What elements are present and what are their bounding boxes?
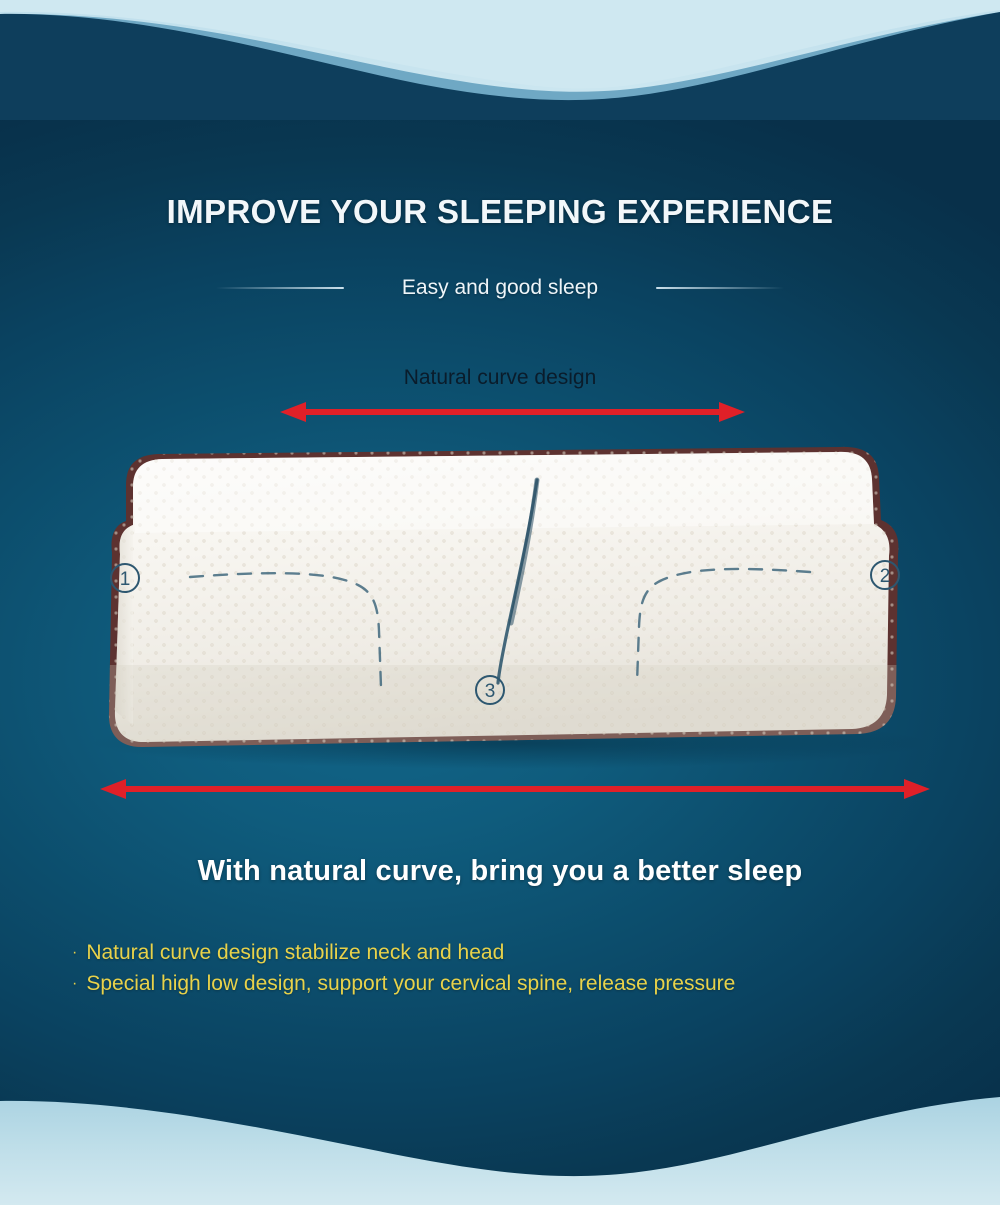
bottom-wave-decoration [0, 1075, 1000, 1205]
subtitle-rule-left [216, 287, 344, 289]
natural-curve-label: Natural curve design [0, 366, 1000, 390]
list-item: · Natural curve design stabilize neck an… [72, 938, 972, 969]
width-arrow-bottom [100, 776, 930, 802]
page-title: IMPROVE YOUR SLEEPING EXPERIENCE [0, 193, 1000, 231]
list-item: · Special high low design, support your … [72, 969, 972, 1000]
width-arrow-top [280, 399, 745, 425]
callout-3-label: 3 [485, 681, 496, 702]
subtitle-row: Easy and good sleep [0, 276, 1000, 300]
subtitle-text: Easy and good sleep [402, 276, 598, 300]
subtitle-rule-right [656, 287, 784, 289]
pillow-product-image: 1 2 3 [40, 425, 960, 770]
top-wave-decoration [0, 0, 1000, 120]
feature-bullet-list: · Natural curve design stabilize neck an… [72, 938, 972, 1000]
callout-2-label: 2 [880, 566, 891, 587]
bullet-marker-icon: · [72, 976, 77, 992]
product-poster: IMPROVE YOUR SLEEPING EXPERIENCE Easy an… [0, 0, 1000, 1205]
callout-1-label: 1 [120, 569, 131, 590]
bullet-text: Natural curve design stabilize neck and … [86, 938, 504, 969]
bullet-text: Special high low design, support your ce… [86, 969, 735, 1000]
bullet-marker-icon: · [72, 945, 77, 961]
footer-tagline: With natural curve, bring you a better s… [0, 855, 1000, 888]
